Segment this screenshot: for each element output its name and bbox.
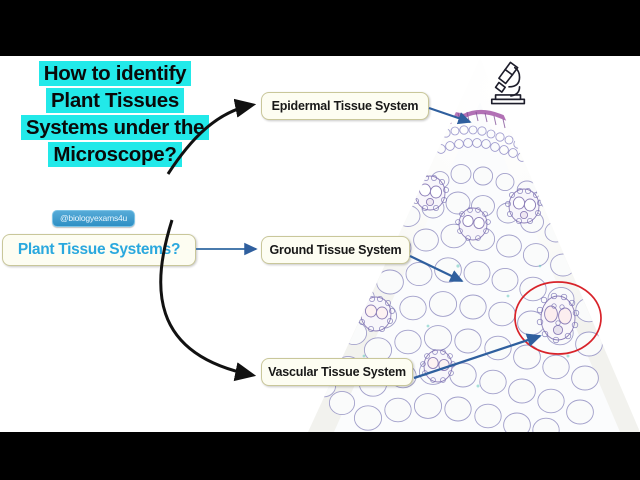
title-line-1: How to identify — [39, 61, 191, 86]
root-question-box[interactable]: Plant Tissue Systems? — [2, 234, 196, 266]
microscope-icon — [486, 58, 532, 108]
label-ground-tissue-system[interactable]: Ground Tissue System — [261, 236, 410, 264]
root-question-label: Plant Tissue Systems? — [18, 241, 180, 259]
label-vascular-text: Vascular Tissue System — [268, 365, 406, 379]
slide-title: How to identify Plant Tissues Systems un… — [0, 60, 230, 168]
watermark-badge: @biologyexams4u — [52, 210, 135, 227]
title-line-2: Plant Tissues — [46, 88, 184, 113]
letterbox-top — [0, 0, 640, 56]
title-line-4: Microscope? — [48, 142, 181, 167]
label-vascular-tissue-system[interactable]: Vascular Tissue System — [261, 358, 413, 386]
slide-canvas: How to identify Plant Tissues Systems un… — [0, 56, 640, 432]
label-epidermal-text: Epidermal Tissue System — [272, 99, 419, 113]
slide-stage: How to identify Plant Tissues Systems un… — [0, 0, 640, 480]
label-epidermal-tissue-system[interactable]: Epidermal Tissue System — [261, 92, 429, 120]
letterbox-bottom — [0, 432, 640, 480]
label-ground-text: Ground Tissue System — [270, 243, 402, 257]
title-line-3: Systems under the — [21, 115, 209, 140]
